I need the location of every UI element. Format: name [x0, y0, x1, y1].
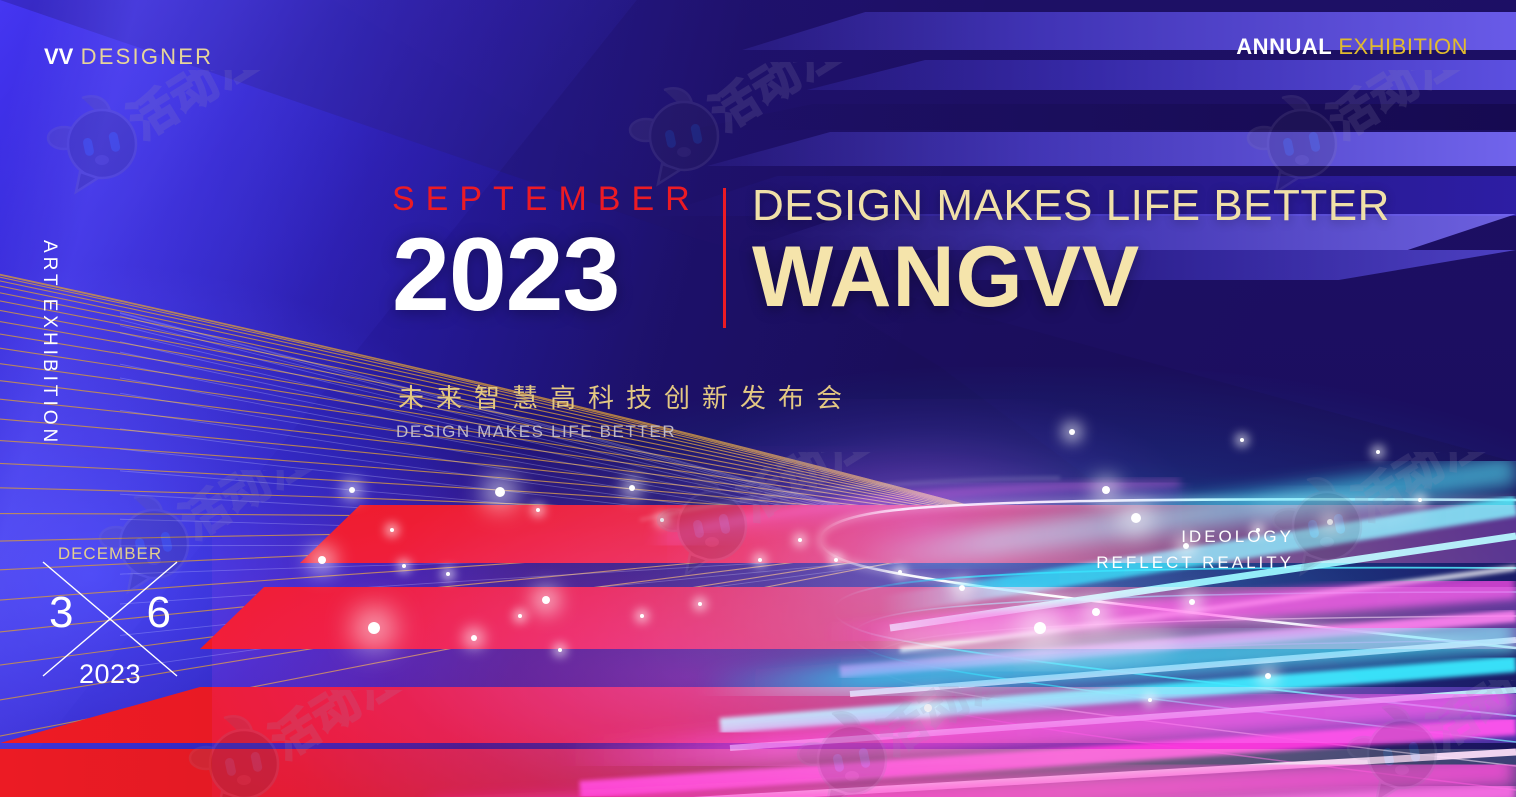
headline-month: SEPTEMBER — [392, 182, 701, 216]
headline-left-block: SEPTEMBER 2023 — [392, 182, 701, 328]
svg-text:活动汪: 活动汪 — [701, 62, 852, 141]
tagline-line-2: REFLECT REALITY — [1096, 550, 1294, 576]
exhibition-text: EXHIBITION — [1338, 34, 1468, 59]
svg-text:活动汪: 活动汪 — [869, 686, 1020, 765]
watermark-mascot-icon: 活动汪 — [640, 452, 890, 602]
svg-text:活动汪: 活动汪 — [1344, 452, 1495, 531]
headline-slogan: DESIGN MAKES LIFE BETTER — [752, 184, 1390, 228]
watermark: 活动汪 — [640, 452, 890, 602]
svg-text:活动汪: 活动汪 — [119, 70, 270, 149]
svg-text:活动汪: 活动汪 — [729, 452, 880, 531]
brand-primary: VV — [44, 44, 73, 69]
headline-name: WANGVV — [752, 232, 1390, 322]
vertical-art-exhibition-label: ART EXHIBITION — [38, 240, 60, 446]
headline-year: 2023 — [392, 222, 701, 328]
date-day-end: 6 — [147, 588, 171, 638]
tagline-block: IDEOLOGY REFLECT REALITY — [1096, 524, 1294, 575]
date-month: DECEMBER — [35, 544, 185, 564]
annual-text: ANNUAL — [1236, 34, 1332, 59]
svg-text:活动汪: 活动汪 — [1319, 70, 1470, 149]
watermark: 活动汪 — [30, 70, 280, 220]
tagline-line-1: IDEOLOGY — [1096, 524, 1294, 550]
date-year: 2023 — [35, 659, 185, 690]
date-day-start: 3 — [49, 588, 73, 638]
brand-logo: VV DESIGNER — [44, 44, 213, 70]
subtitle-chinese: 未来智慧高科技创新发布会 — [398, 378, 854, 415]
watermark-mascot-icon: 活动汪 — [780, 686, 1030, 797]
svg-text:活动汪: 活动汪 — [1419, 680, 1516, 759]
watermark-mascot-icon: 活动汪 — [1330, 680, 1516, 797]
subtitle-english: DESIGN MAKES LIFE BETTER — [396, 422, 676, 442]
date-mark: DECEMBER 3 6 2023 — [35, 548, 185, 688]
headline-right-block: DESIGN MAKES LIFE BETTER WANGVV — [752, 184, 1390, 322]
poster-canvas: 活动汪活动汪活动汪活动汪活动汪活动汪活动汪活动汪活动汪 VV DESIGNER … — [0, 0, 1516, 797]
vertical-divider — [723, 188, 726, 328]
svg-text:活动汪: 活动汪 — [171, 470, 322, 549]
svg-text:活动汪: 活动汪 — [261, 690, 412, 769]
annual-exhibition-label: ANNUAL EXHIBITION — [1236, 34, 1468, 60]
brand-secondary: DESIGNER — [81, 44, 214, 69]
watermark-mascot-icon: 活动汪 — [172, 690, 422, 797]
watermark-mascot-icon: 活动汪 — [30, 70, 280, 220]
watermark: 活动汪 — [172, 690, 422, 797]
watermark: 活动汪 — [1330, 680, 1516, 797]
watermark: 活动汪 — [780, 686, 1030, 797]
